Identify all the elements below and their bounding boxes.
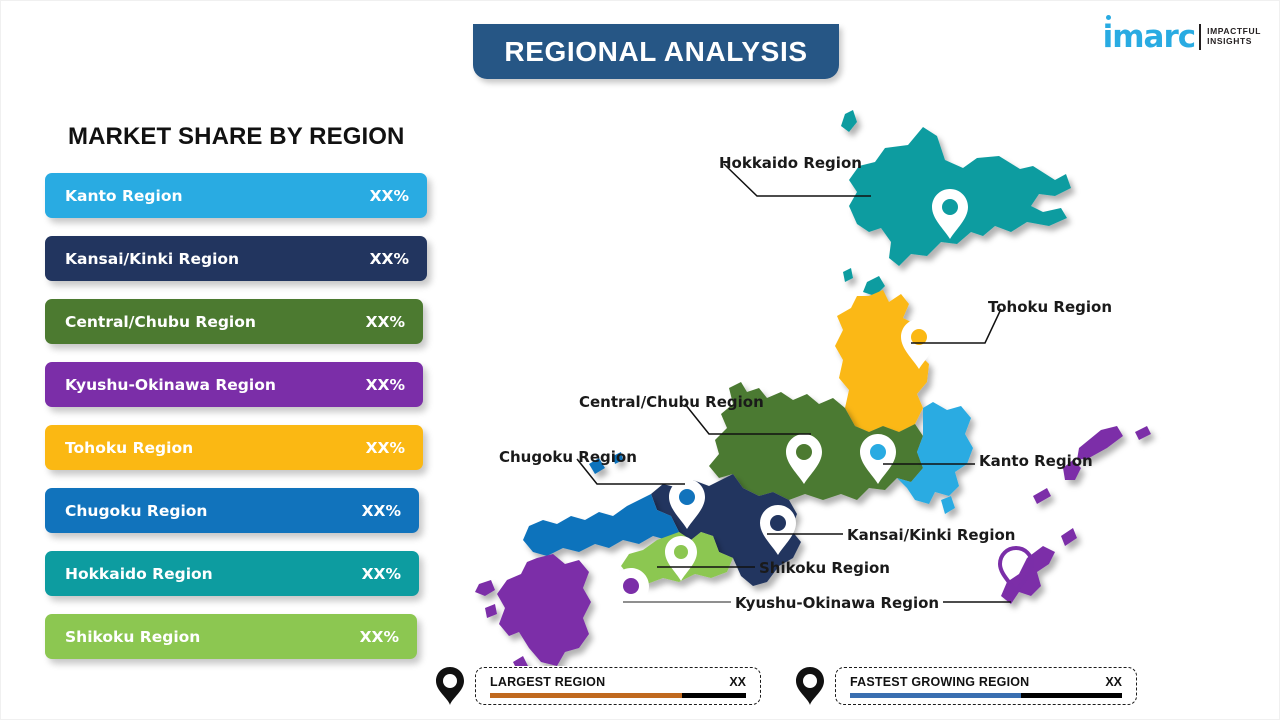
logo-wordmark: imarc: [1103, 22, 1196, 53]
map-region-kyushu[interactable]: [475, 554, 591, 666]
legend-row[interactable]: Chugoku RegionXX%: [45, 488, 419, 533]
map-label-tohoku: Tohoku Region: [988, 298, 1112, 316]
legend-row[interactable]: Kyushu-Okinawa RegionXX%: [45, 362, 423, 407]
market-share-legend-list: Kanto RegionXX%Kansai/Kinki RegionXX%Cen…: [45, 173, 445, 677]
map-label-chugoku: Chugoku Region: [499, 448, 637, 466]
legend-row-value: XX%: [370, 187, 409, 205]
fastest-growing-region-box: FASTEST GROWING REGION XX: [835, 667, 1137, 705]
map-label-kyushu-okinawa: Kyushu-Okinawa Region: [735, 594, 939, 612]
largest-region-progress-track: [490, 693, 746, 698]
legend-row[interactable]: Central/Chubu RegionXX%: [45, 299, 423, 344]
legend-row[interactable]: Shikoku RegionXX%: [45, 614, 417, 659]
legend-row-value: XX%: [366, 313, 405, 331]
legend-row[interactable]: Kanto RegionXX%: [45, 173, 427, 218]
japan-map-svg: [471, 96, 1171, 666]
map-label-kansai-kinki: Kansai/Kinki Region: [847, 526, 1015, 544]
legend-row-label: Kansai/Kinki Region: [65, 250, 239, 268]
fastest-growing-region-value: XX: [1105, 675, 1122, 689]
market-share-heading: MARKET SHARE BY REGION: [68, 123, 404, 151]
legend-row[interactable]: Kansai/Kinki RegionXX%: [45, 236, 427, 281]
legend-row-label: Hokkaido Region: [65, 565, 213, 583]
map-label-shikoku: Shikoku Region: [759, 559, 890, 577]
largest-region-progress-fill: [490, 693, 682, 698]
map-pin-kyushu[interactable]: [613, 568, 649, 618]
page-title: REGIONAL ANALYSIS: [504, 36, 807, 68]
legend-row-value: XX%: [366, 376, 405, 394]
imarc-logo: imarc IMPACTFUL INSIGHTS: [1103, 15, 1261, 59]
largest-region-box: LARGEST REGION XX: [475, 667, 761, 705]
japan-region-map: Hokkaido RegionTohoku RegionCentral/Chub…: [471, 96, 1171, 666]
legend-row-value: XX%: [360, 628, 399, 646]
location-pin-icon: [435, 666, 465, 706]
slide-canvas: REGIONAL ANALYSIS imarc IMPACTFUL INSIGH…: [0, 0, 1280, 720]
largest-region-label: LARGEST REGION: [490, 675, 605, 689]
logo-dot-icon: [1106, 15, 1111, 20]
legend-row-label: Chugoku Region: [65, 502, 207, 520]
largest-region-callout: LARGEST REGION XX: [435, 663, 761, 709]
legend-row-value: XX%: [366, 439, 405, 457]
legend-row[interactable]: Tohoku RegionXX%: [45, 425, 423, 470]
fastest-growing-region-progress-fill: [850, 693, 1021, 698]
legend-row-value: XX%: [370, 250, 409, 268]
location-pin-icon: [795, 666, 825, 706]
legend-row-value: XX%: [362, 502, 401, 520]
legend-row-label: Tohoku Region: [65, 439, 193, 457]
legend-row-label: Central/Chubu Region: [65, 313, 256, 331]
map-label-kanto: Kanto Region: [979, 452, 1093, 470]
logo-tagline-line2: INSIGHTS: [1207, 37, 1261, 47]
fastest-growing-region-progress-track: [850, 693, 1122, 698]
map-label-hokkaido: Hokkaido Region: [719, 154, 862, 172]
fastest-growing-region-callout: FASTEST GROWING REGION XX: [795, 663, 1137, 709]
legend-row-value: XX%: [362, 565, 401, 583]
logo-divider: [1199, 24, 1201, 50]
map-label-central-chubu: Central/Chubu Region: [579, 393, 764, 411]
legend-row[interactable]: Hokkaido RegionXX%: [45, 551, 419, 596]
legend-row-label: Shikoku Region: [65, 628, 200, 646]
page-title-banner: REGIONAL ANALYSIS: [473, 24, 839, 79]
legend-row-label: Kanto Region: [65, 187, 183, 205]
largest-region-value: XX: [729, 675, 746, 689]
legend-row-label: Kyushu-Okinawa Region: [65, 376, 276, 394]
logo-tagline: IMPACTFUL INSIGHTS: [1207, 27, 1261, 46]
fastest-growing-region-label: FASTEST GROWING REGION: [850, 675, 1029, 689]
logo-wordmark-text: imarc: [1103, 19, 1196, 55]
